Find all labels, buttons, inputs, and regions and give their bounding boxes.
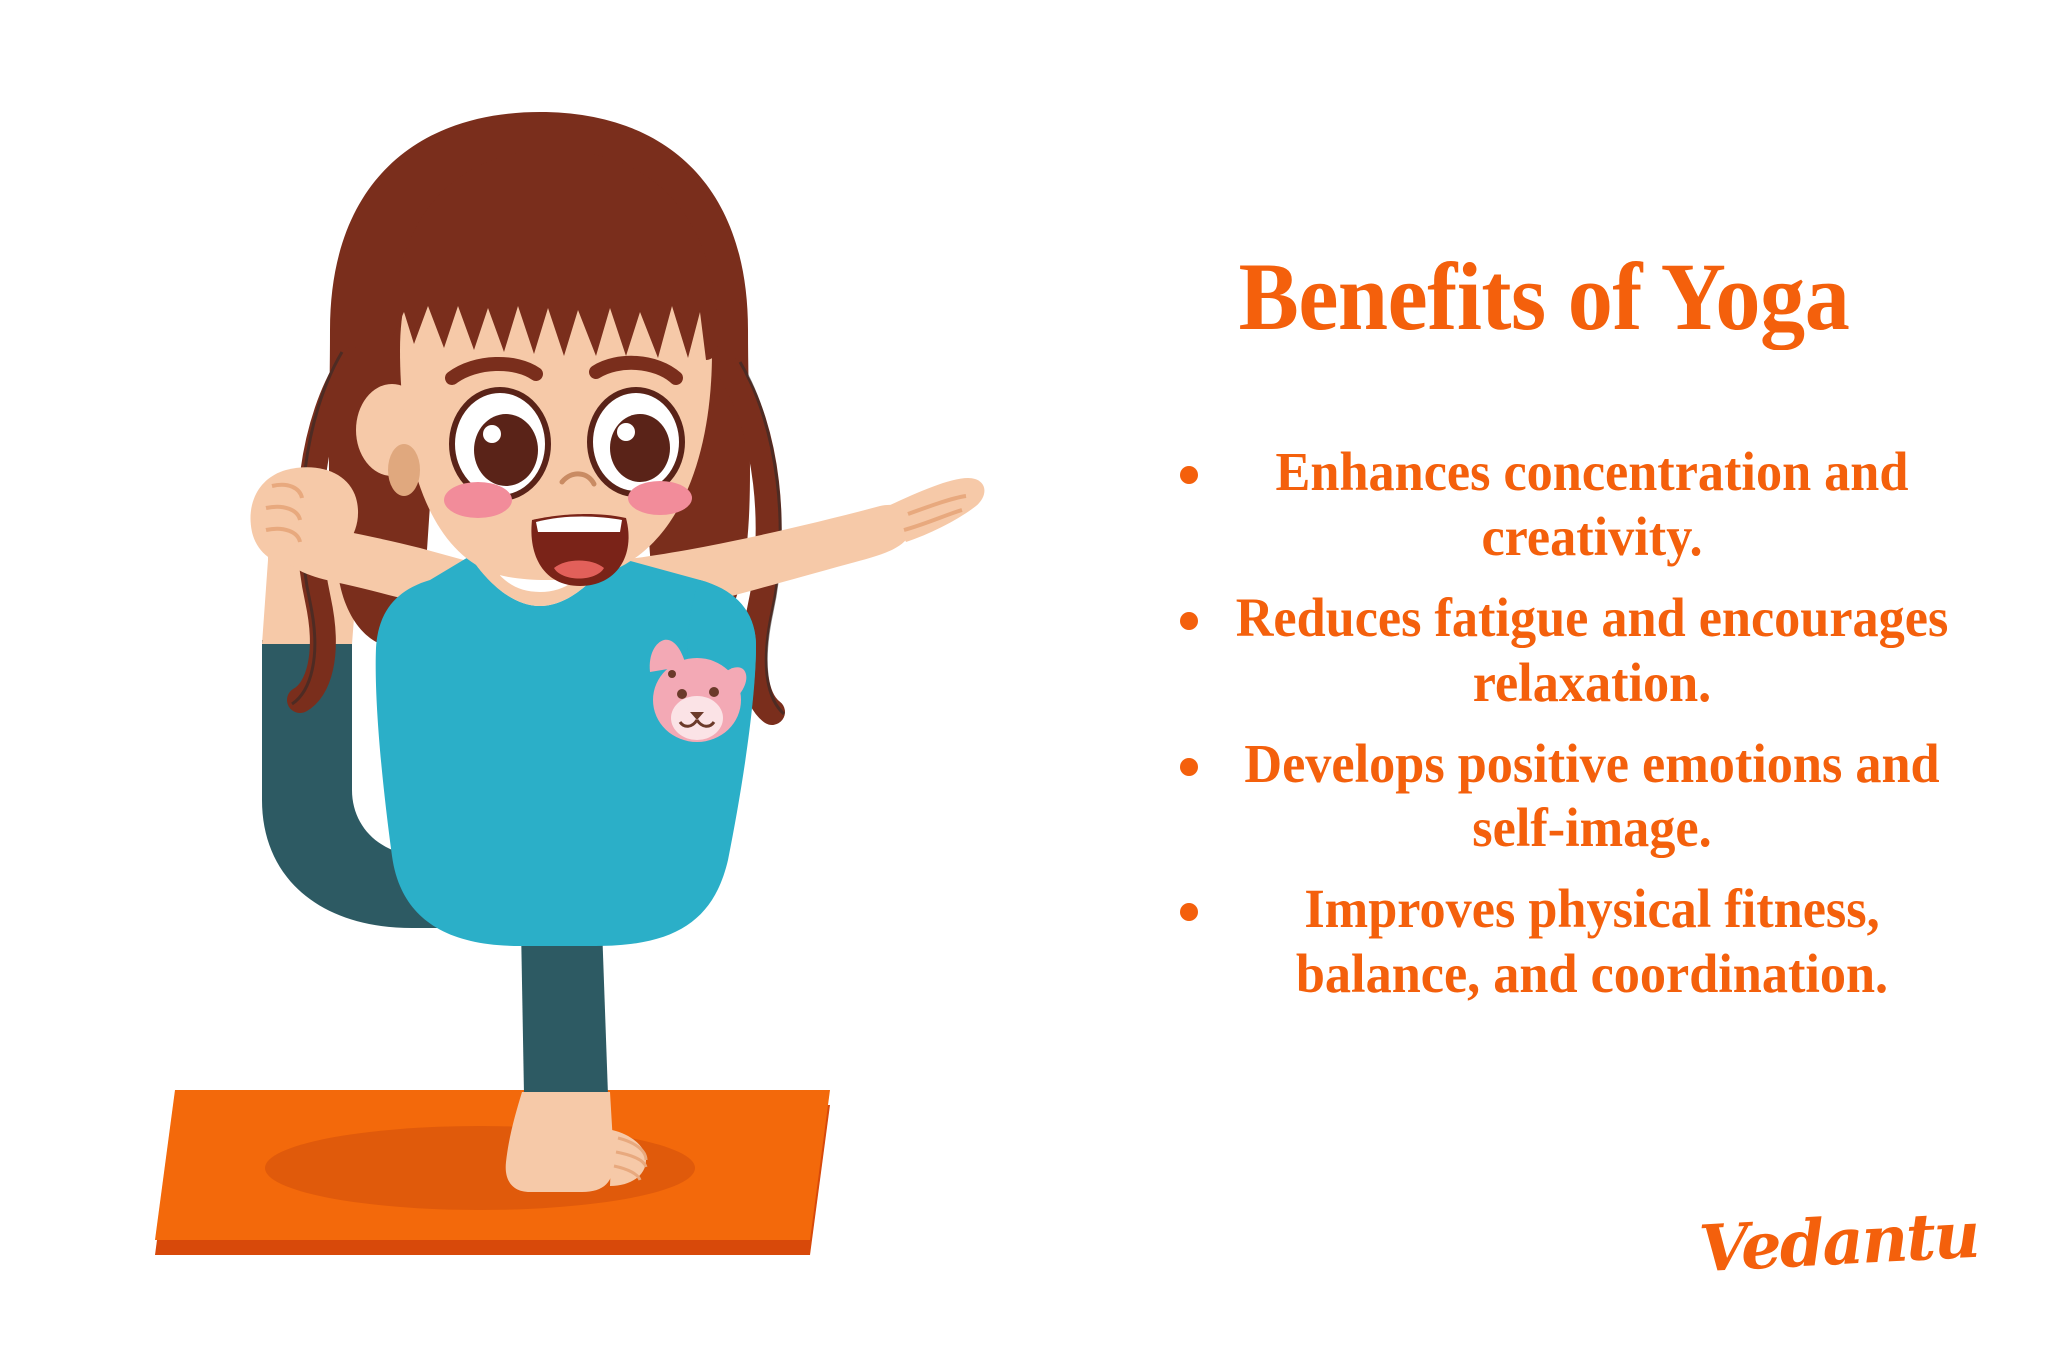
illustration-pane (0, 0, 1080, 1365)
yoga-mat-icon (155, 1090, 830, 1255)
list-item: Develops positive emotions and self-imag… (1180, 732, 1968, 862)
tshirt (376, 550, 756, 946)
bullet-dot-icon (1180, 903, 1198, 921)
bullet-dot-icon (1180, 612, 1198, 630)
list-item: Reduces fatigue and encourages relaxatio… (1180, 586, 1968, 716)
vedantu-logo: Vedantu (1697, 1198, 1980, 1288)
page-title: Benefits of Yoga (1108, 249, 1980, 345)
poster-canvas: Benefits of Yoga Enhances concentration … (0, 0, 2048, 1365)
benefit-text: Develops positive emotions and self-imag… (1235, 732, 1949, 862)
bullet-dot-icon (1180, 758, 1198, 776)
benefit-text: Improves physical fitness, balance, and … (1235, 877, 1949, 1007)
benefit-text: Enhances concentration and creativity. (1235, 440, 1949, 570)
bullet-dot-icon (1180, 466, 1198, 484)
list-item: Improves physical fitness, balance, and … (1180, 877, 1968, 1007)
girl-yoga-illustration (0, 0, 1080, 1365)
text-pane: Benefits of Yoga Enhances concentration … (1080, 0, 2048, 1365)
list-item: Enhances concentration and creativity. (1180, 440, 1968, 570)
benefit-text: Reduces fatigue and encourages relaxatio… (1235, 586, 1949, 716)
benefits-list: Enhances concentration and creativity. R… (1180, 440, 1968, 1023)
